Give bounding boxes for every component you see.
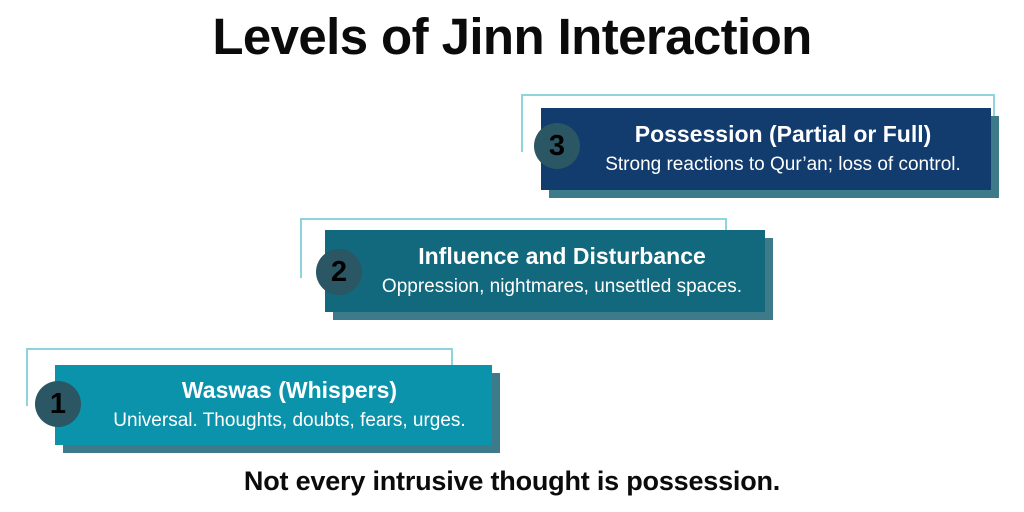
step-card-1[interactable]: Waswas (Whispers) Universal. Thoughts, d… <box>55 365 492 445</box>
footer-caption: Not every intrusive thought is possessio… <box>0 466 1024 497</box>
step-number-badge-1: 1 <box>35 381 81 427</box>
step-title-3: Possession (Partial or Full) <box>587 122 979 148</box>
step-card-3[interactable]: Possession (Partial or Full) Strong reac… <box>541 108 991 190</box>
infographic-canvas: Levels of Jinn Interaction Possession (P… <box>0 0 1024 512</box>
step-card-2[interactable]: Influence and Disturbance Oppression, ni… <box>325 230 765 312</box>
step-number-badge-3: 3 <box>534 123 580 169</box>
step-description-1: Universal. Thoughts, doubts, fears, urge… <box>99 410 480 432</box>
page-title: Levels of Jinn Interaction <box>0 8 1024 67</box>
step-title-2: Influence and Disturbance <box>371 244 753 270</box>
step-title-1: Waswas (Whispers) <box>99 378 480 404</box>
step-description-3: Strong reactions to Qur’an; loss of cont… <box>587 154 979 176</box>
step-description-2: Oppression, nightmares, unsettled spaces… <box>371 276 753 298</box>
step-number-badge-2: 2 <box>316 249 362 295</box>
